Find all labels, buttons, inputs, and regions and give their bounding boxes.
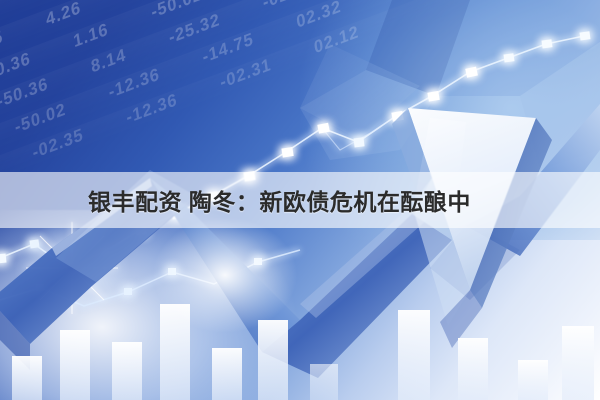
bar-group [12, 304, 594, 400]
headline-band: 银丰配资 陶冬：新欧债危机在酝酿中 [0, 172, 600, 228]
center-highlight-glow [150, 215, 300, 335]
bar [458, 338, 488, 400]
bar [12, 356, 42, 400]
bar [310, 364, 338, 400]
banner-image: -02.36-11.2521.945.02-50.02-02.364.361.6… [0, 0, 600, 400]
bar [60, 330, 90, 400]
bar [562, 326, 594, 400]
bar [518, 360, 548, 400]
page-title: 银丰配资 陶冬：新欧债危机在酝酿中 [88, 183, 471, 217]
bar [112, 342, 142, 400]
bar [212, 348, 242, 400]
bar [398, 310, 430, 400]
